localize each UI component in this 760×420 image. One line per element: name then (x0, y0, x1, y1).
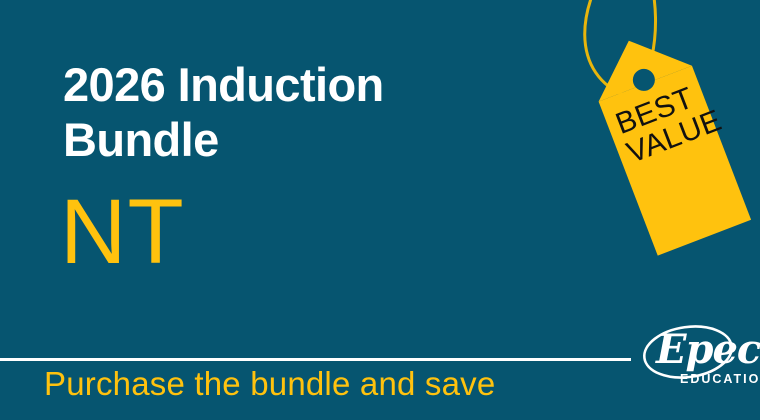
divider (0, 358, 631, 361)
logo: Epec EDUCATION (640, 322, 758, 404)
logo-script-name: Epec (656, 330, 760, 370)
tag-body-icon (599, 66, 751, 256)
state-abbreviation: NT (60, 186, 185, 278)
page-title: 2026 Induction Bundle (63, 58, 533, 167)
tagline: Purchase the bundle and save (44, 363, 495, 404)
promo-banner: 2026 Induction Bundle NT BEST VALUE Purc… (0, 0, 760, 420)
price-tag-graphic (560, 0, 760, 280)
logo-wordmark: EDUCATION (680, 372, 760, 386)
